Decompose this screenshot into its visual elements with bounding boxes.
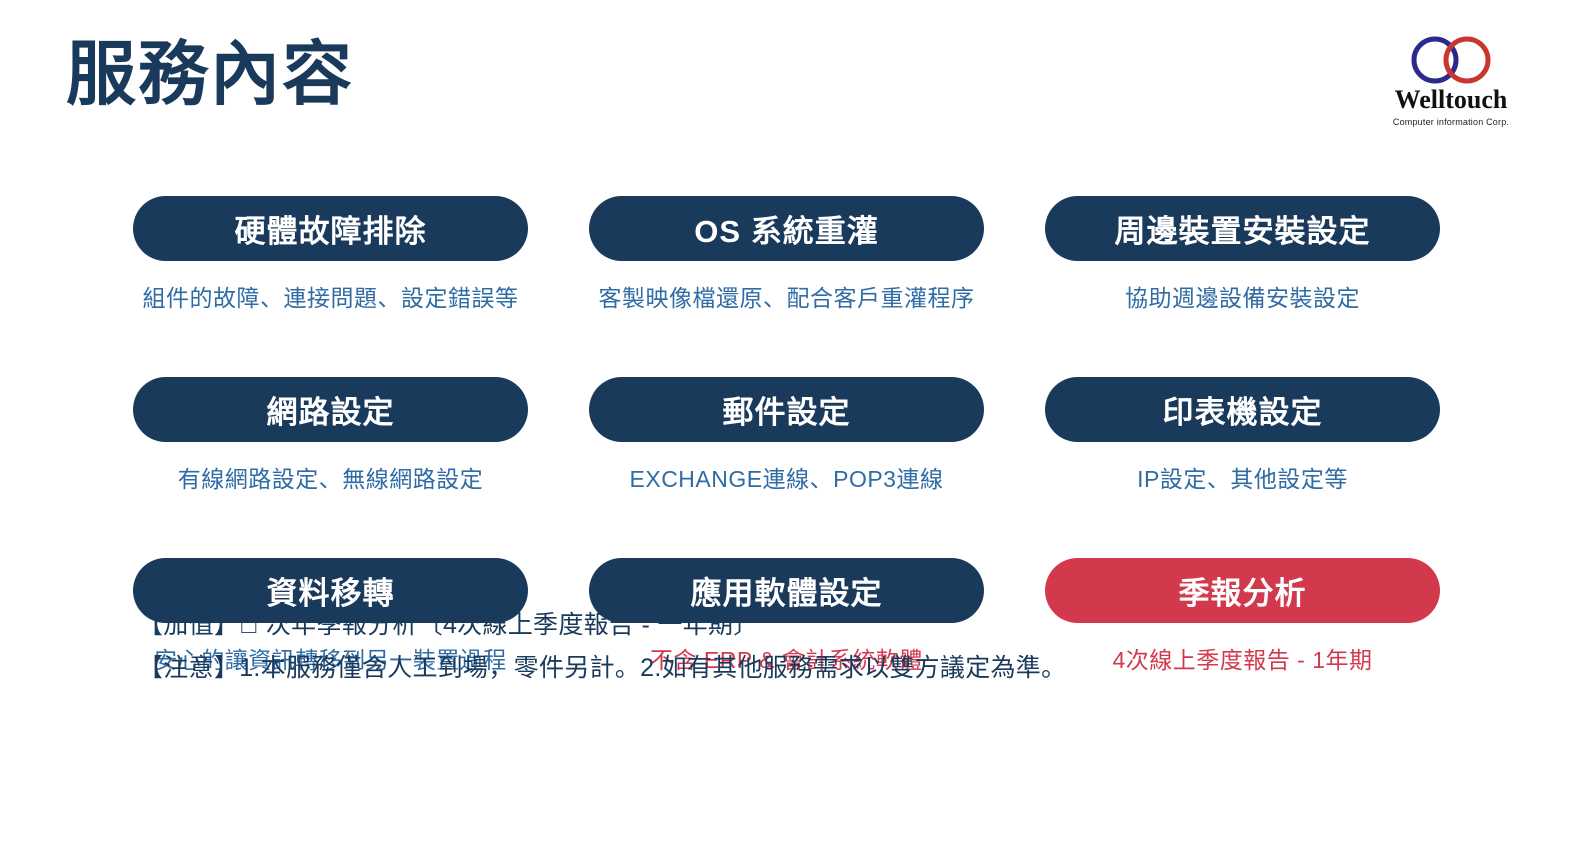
service-card[interactable]: 郵件設定 EXCHANGE連線、POP3連線: [589, 377, 984, 494]
service-pill[interactable]: 網路設定: [133, 377, 528, 442]
service-pill[interactable]: 季報分析: [1045, 558, 1440, 623]
service-pill[interactable]: OS 系統重灌: [589, 196, 984, 261]
service-caption: EXCHANGE連線、POP3連線: [630, 460, 944, 494]
page-title: 服務內容: [66, 36, 354, 113]
service-card-highlighted[interactable]: 季報分析 4次線上季度報告 - 1年期: [1045, 558, 1440, 675]
note-caution-text: 1.本服務僅含人工到場，零件另計。2.如有其他服務需求以雙方議定為準。: [239, 654, 1066, 682]
service-caption: 有線網路設定、無線網路設定: [178, 460, 484, 494]
service-pill[interactable]: 硬體故障排除: [133, 196, 528, 261]
service-pill[interactable]: 周邊裝置安裝設定: [1045, 196, 1440, 261]
footnotes: 【加值】□ 次年季報分析〔4次線上季度報告 - 一年期〕 【注意】1.本服務僅含…: [138, 604, 1066, 690]
service-pill[interactable]: 郵件設定: [589, 377, 984, 442]
service-card[interactable]: 網路設定 有線網路設定、無線網路設定: [133, 377, 528, 494]
service-card[interactable]: 周邊裝置安裝設定 協助週邊設備安裝設定: [1045, 196, 1440, 313]
checkbox-empty-icon[interactable]: □: [239, 604, 258, 647]
slide-header: 服務內容 Welltouch Computer information Corp…: [0, 0, 1594, 170]
service-caption: 4次線上季度報告 - 1年期: [1112, 641, 1372, 675]
company-logo: Welltouch Computer information Corp.: [1376, 34, 1526, 134]
logo-wordmark: Welltouch: [1376, 87, 1526, 113]
note-value-added: 【加值】□ 次年季報分析〔4次線上季度報告 - 一年期〕: [138, 604, 1066, 647]
service-card[interactable]: 印表機設定 IP設定、其他設定等: [1045, 377, 1440, 494]
note-value-added-text: 次年季報分析〔4次線上季度報告 - 一年期〕: [259, 611, 759, 639]
service-card[interactable]: 硬體故障排除 組件的故障、連接問題、設定錯誤等: [133, 196, 528, 313]
service-caption: 客製映像檔還原、配合客戶重灌程序: [599, 279, 975, 313]
service-caption: 協助週邊設備安裝設定: [1125, 279, 1360, 313]
logo-rings-icon: [1376, 34, 1526, 86]
service-pill[interactable]: 印表機設定: [1045, 377, 1440, 442]
services-row-1: 硬體故障排除 組件的故障、連接問題、設定錯誤等 OS 系統重灌 客製映像檔還原、…: [133, 196, 1440, 313]
logo-subtext: Computer information Corp.: [1376, 117, 1526, 127]
note-caution-label: 【注意】: [138, 654, 239, 682]
note-value-added-label: 【加值】: [138, 611, 239, 639]
services-row-2: 網路設定 有線網路設定、無線網路設定 郵件設定 EXCHANGE連線、POP3連…: [133, 377, 1440, 494]
service-card[interactable]: OS 系統重灌 客製映像檔還原、配合客戶重灌程序: [589, 196, 984, 313]
service-caption: 組件的故障、連接問題、設定錯誤等: [143, 279, 519, 313]
service-caption: IP設定、其他設定等: [1137, 460, 1348, 494]
note-caution: 【注意】1.本服務僅含人工到場，零件另計。2.如有其他服務需求以雙方議定為準。: [138, 647, 1066, 690]
